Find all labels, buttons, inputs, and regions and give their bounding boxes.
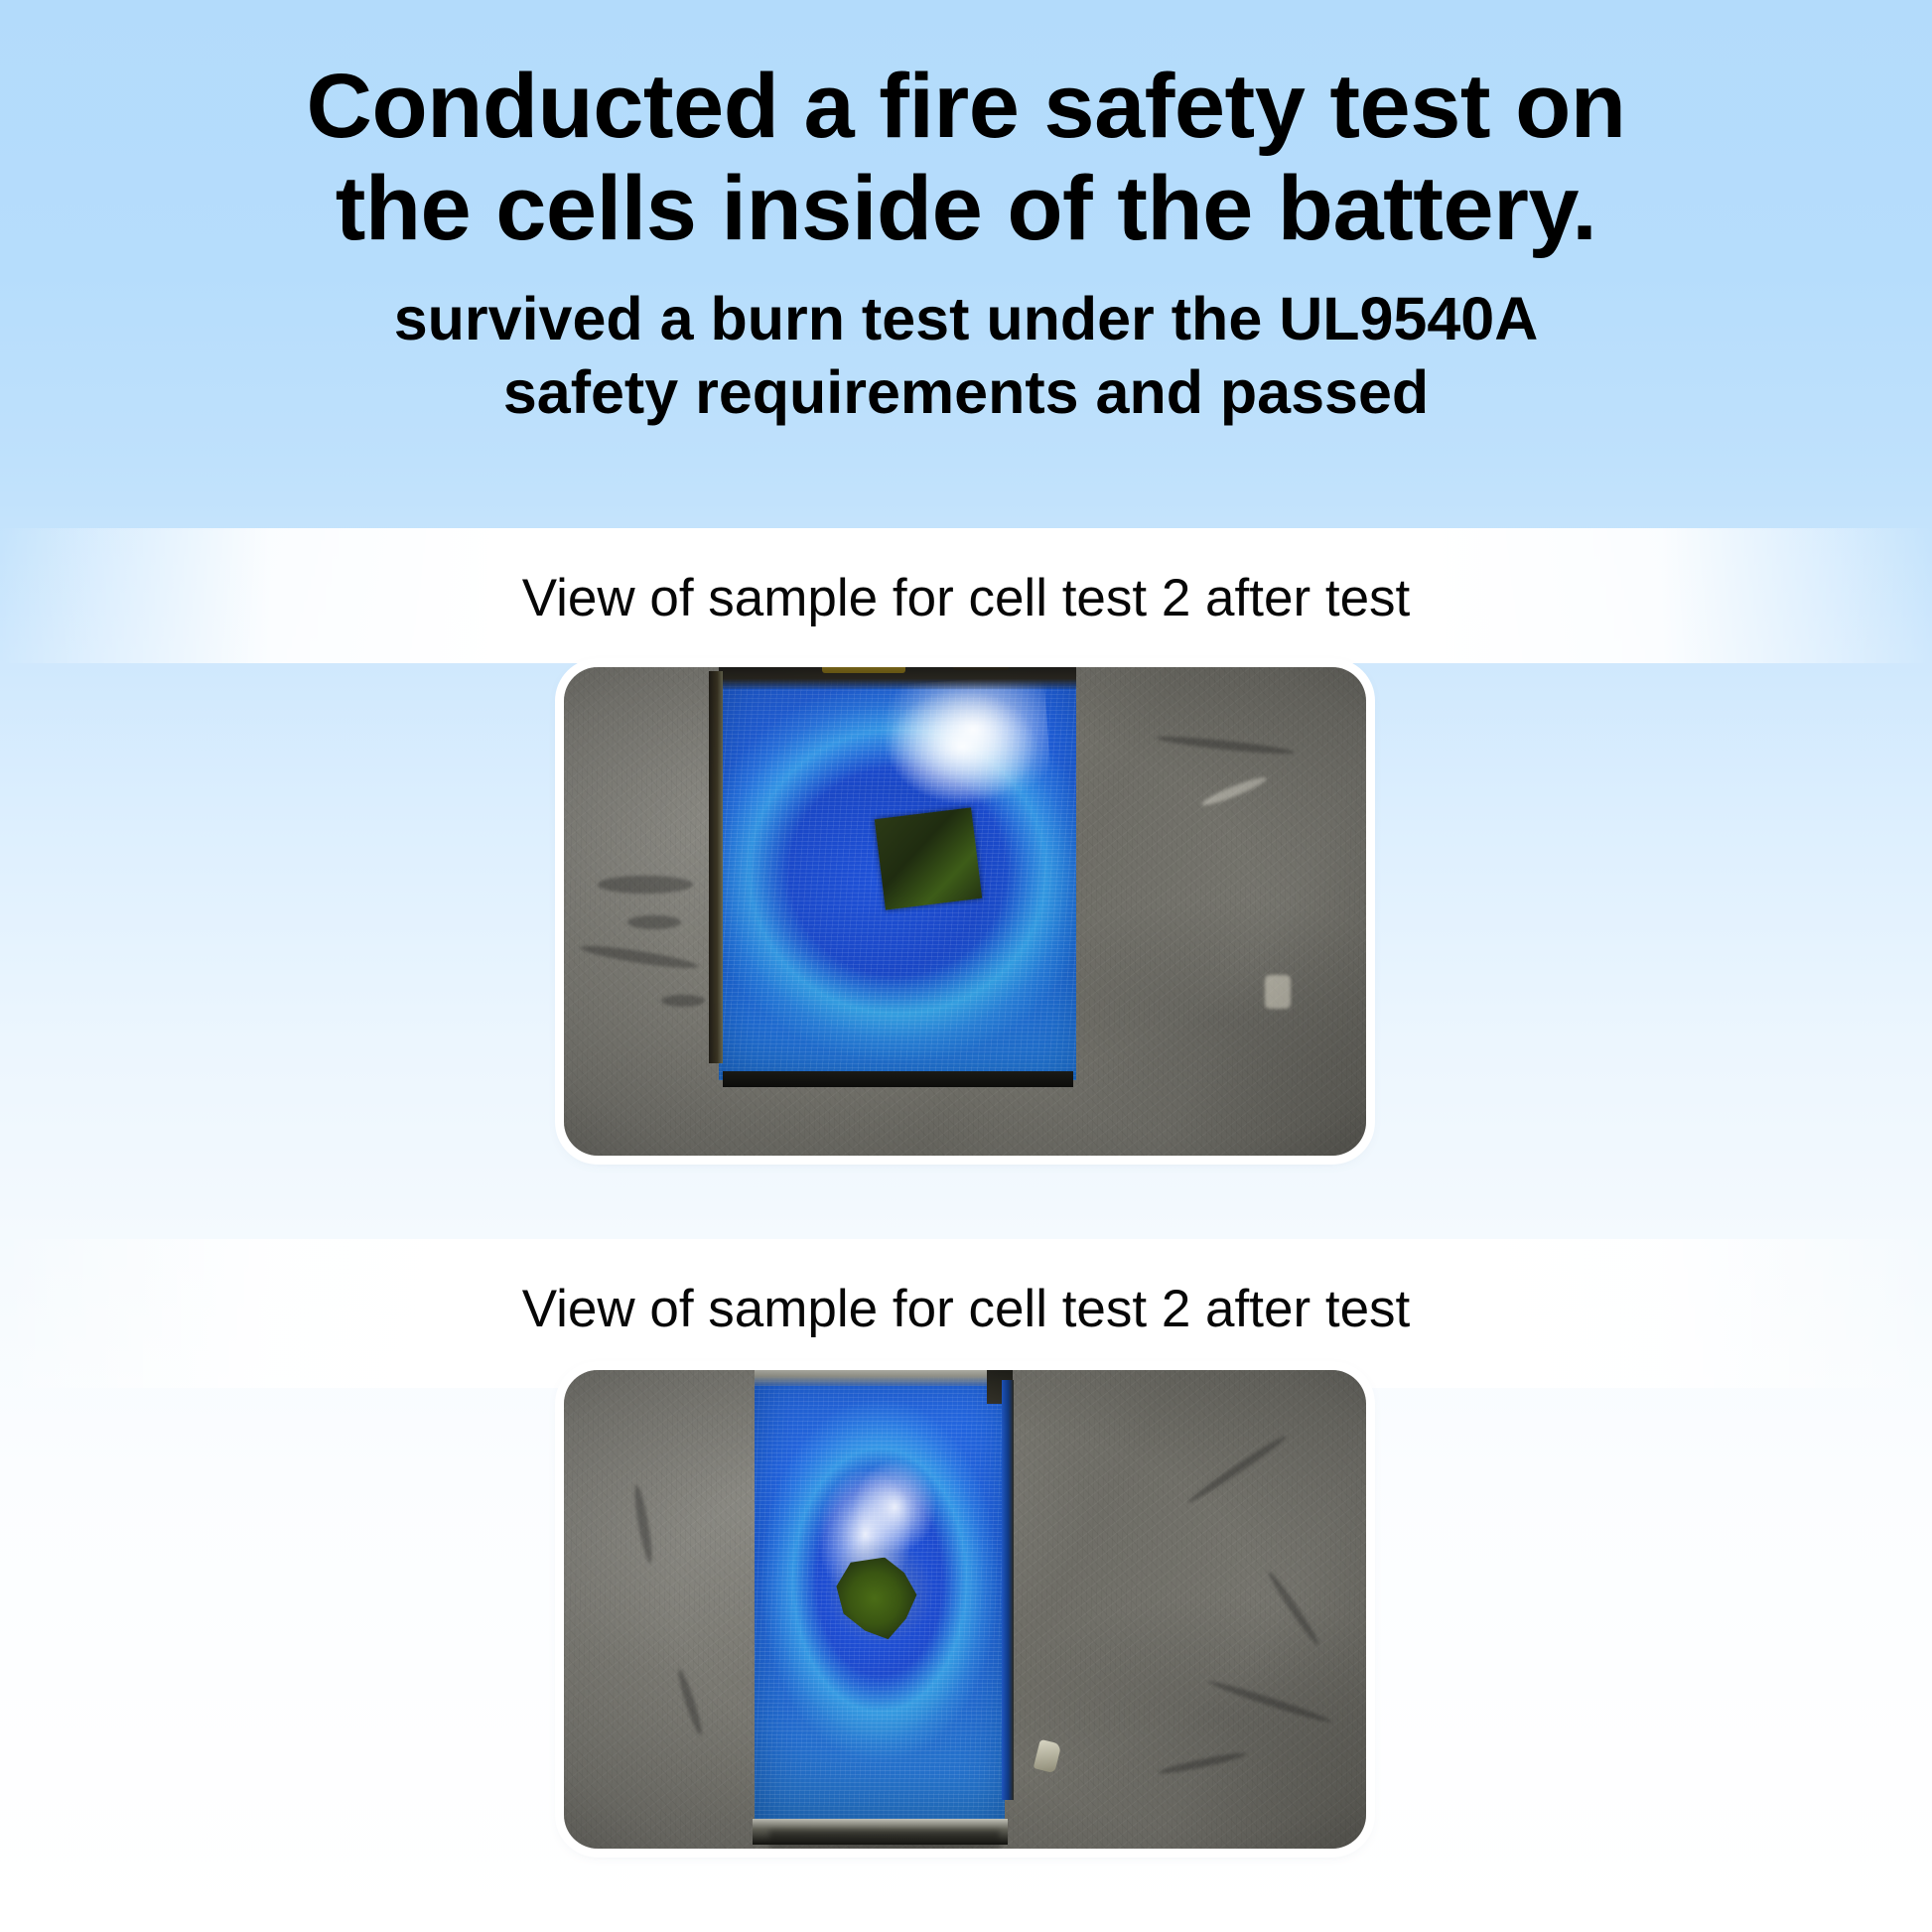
photo-image-2: [564, 1370, 1366, 1849]
photo-card-1: [564, 667, 1366, 1156]
headline-line-2: the cells inside of the battery.: [149, 158, 1783, 260]
cell-tab-yellow-icon: [822, 667, 905, 673]
page-subtitle: survived a burn test under the UL9540A s…: [149, 282, 1783, 430]
battery-cell-2: [755, 1370, 1005, 1827]
headline-block: Conducted a fire safety test on the cell…: [0, 56, 1932, 430]
photo-caption-2: View of sample for cell test 2 after tes…: [0, 1279, 1932, 1339]
subhead-line-2: safety requirements and passed: [149, 355, 1783, 429]
burn-mark-1: [875, 808, 982, 910]
subhead-line-1: survived a burn test under the UL9540A: [149, 282, 1783, 355]
slide-canvas: Conducted a fire safety test on the cell…: [0, 0, 1932, 1932]
page-title: Conducted a fire safety test on the cell…: [149, 56, 1783, 260]
photo-caption-1: View of sample for cell test 2 after tes…: [0, 568, 1932, 628]
photo-image-1: [564, 667, 1366, 1156]
cell-tab-black-icon: [953, 667, 1009, 670]
photo-card-2: [564, 1370, 1366, 1849]
battery-cell-1: [719, 667, 1076, 1080]
headline-line-1: Conducted a fire safety test on: [149, 56, 1783, 158]
